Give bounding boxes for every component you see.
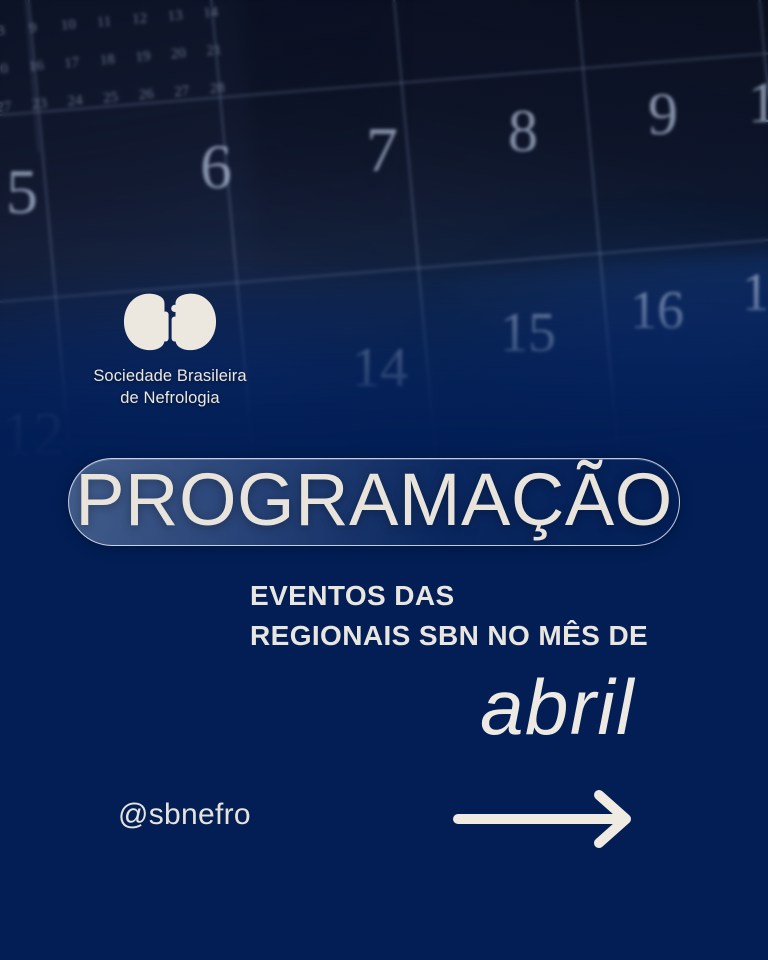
subtitle-line-1: EVENTOS DAS	[250, 576, 720, 616]
kidney-pair-icon	[0, 292, 340, 358]
logo-line-2: de Nefrologia	[0, 388, 340, 410]
logo-line-1: Sociedade Brasileira	[0, 366, 340, 388]
social-handle: @sbnefro	[118, 798, 251, 832]
subtitle-line-2: REGIONAIS SBN NO MÊS DE	[250, 616, 720, 656]
programacao-banner: PROGRAMAÇÃO	[68, 458, 680, 546]
banner-title: PROGRAMAÇÃO	[75, 463, 673, 537]
arrow-right-icon[interactable]	[452, 788, 642, 850]
sbn-logo: Sociedade Brasileira de Nefrologia	[0, 292, 340, 410]
logo-wordmark: Sociedade Brasileira de Nefrologia	[0, 366, 340, 410]
poster-canvas: 56789101214151617 2345671391011121314201…	[0, 0, 768, 960]
month-label: abril	[250, 668, 635, 746]
subtitle-block: EVENTOS DAS REGIONAIS SBN NO MÊS DE	[250, 576, 720, 656]
